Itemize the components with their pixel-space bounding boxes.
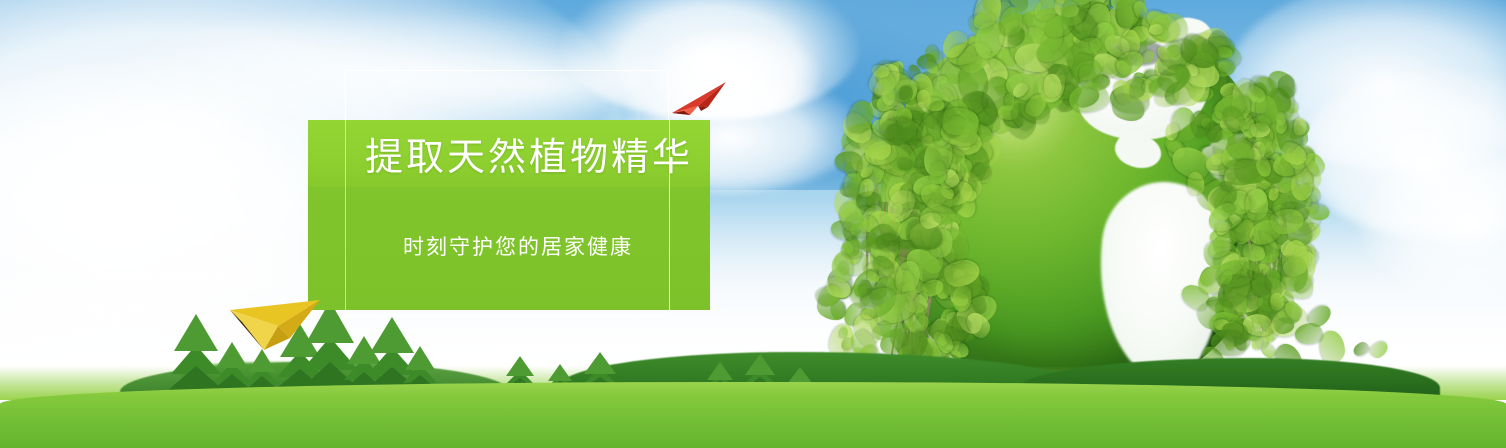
hero-banner: 提取天然植物精华 时刻守护您的居家健康 [0, 0, 1506, 448]
grass-meadow [0, 382, 1506, 448]
red-paper-plane-icon [668, 80, 730, 120]
green-leaf-globe [880, 6, 1280, 406]
banner-subheadline: 时刻守护您的居家健康 [308, 187, 710, 310]
yellow-paper-plane-icon [228, 298, 328, 358]
promo-text-panel: 提取天然植物精华 时刻守护您的居家健康 [308, 120, 710, 310]
banner-headline: 提取天然植物精华 [308, 120, 710, 187]
frame-line-left [345, 120, 346, 310]
frame-line-right [669, 120, 670, 310]
